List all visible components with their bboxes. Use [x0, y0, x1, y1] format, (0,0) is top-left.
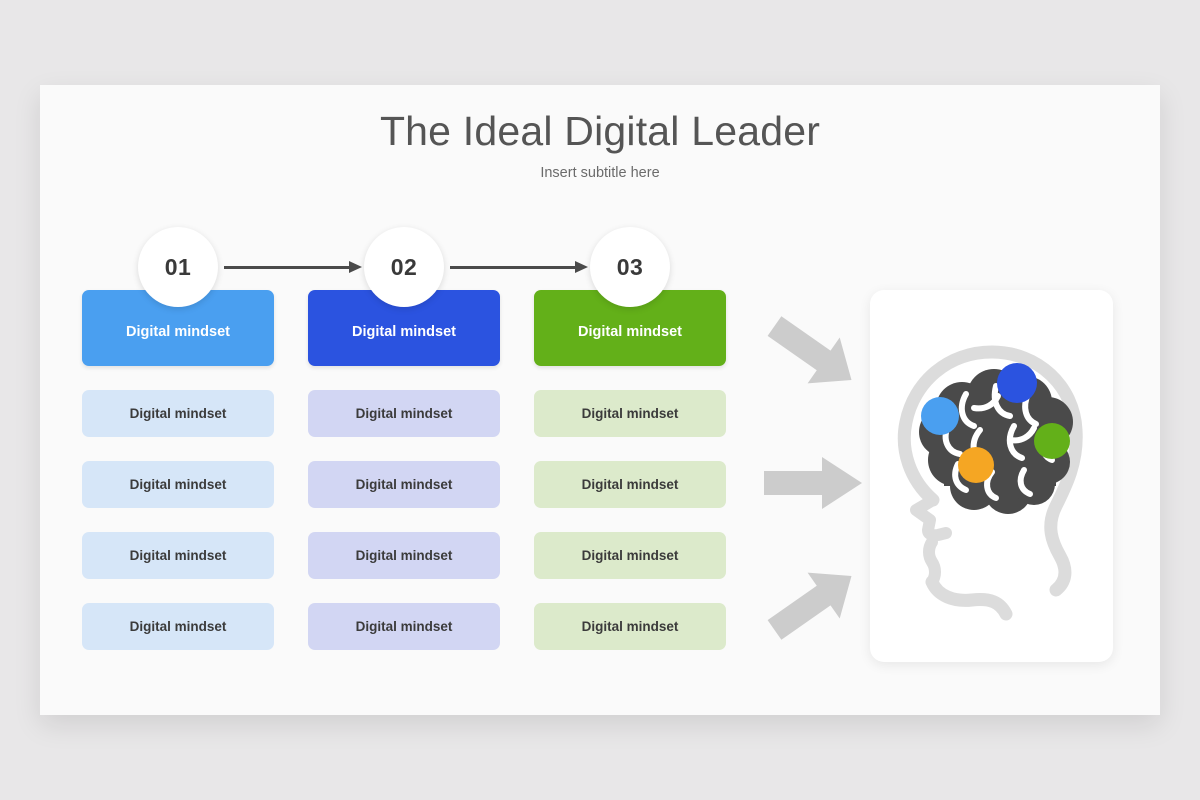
list-item-label: Digital mindset: [356, 548, 453, 563]
list-item[interactable]: Digital mindset: [82, 532, 274, 579]
list-item[interactable]: Digital mindset: [308, 532, 500, 579]
list-item[interactable]: Digital mindset: [82, 390, 274, 437]
head-with-brain-card: [870, 290, 1113, 662]
column-step-03: Digital mindset Digital mindset Digital …: [534, 290, 726, 650]
list-item-label: Digital mindset: [130, 619, 227, 634]
dot-orange-icon: [958, 447, 994, 483]
step-number-label: 02: [391, 254, 418, 281]
page-title: The Ideal Digital Leader: [40, 108, 1160, 155]
step-number-badge-03[interactable]: 03: [590, 227, 670, 307]
list-item[interactable]: Digital mindset: [308, 603, 500, 650]
column-header-label: Digital mindset: [126, 324, 230, 340]
arrow-down-right-icon: [758, 303, 868, 408]
list-item[interactable]: Digital mindset: [534, 532, 726, 579]
arrow-right-icon: [758, 453, 868, 518]
list-item-label: Digital mindset: [582, 548, 679, 563]
list-item[interactable]: Digital mindset: [308, 390, 500, 437]
list-item[interactable]: Digital mindset: [534, 603, 726, 650]
dot-royal-blue-icon: [997, 363, 1037, 403]
column-header-label: Digital mindset: [352, 324, 456, 340]
connector-line: [224, 266, 350, 269]
list-item-label: Digital mindset: [582, 406, 679, 421]
list-item-label: Digital mindset: [582, 619, 679, 634]
connector-arrow-1-to-2: [224, 264, 362, 270]
column-header-label: Digital mindset: [578, 324, 682, 340]
list-item-label: Digital mindset: [130, 548, 227, 563]
connector-arrowhead-icon: [349, 261, 362, 273]
slide-canvas: The Ideal Digital Leader Insert subtitle…: [40, 85, 1160, 715]
column-step-01: Digital mindset Digital mindset Digital …: [82, 290, 274, 650]
chin-jaw-path: [932, 582, 1006, 614]
connector-arrow-2-to-3: [450, 264, 588, 270]
list-item-label: Digital mindset: [356, 619, 453, 634]
connector-arrowhead-icon: [575, 261, 588, 273]
list-item[interactable]: Digital mindset: [534, 390, 726, 437]
step-number-badge-01[interactable]: 01: [138, 227, 218, 307]
list-item-label: Digital mindset: [130, 477, 227, 492]
connector-line: [450, 266, 576, 269]
column-step-02: Digital mindset Digital mindset Digital …: [308, 290, 500, 650]
list-item[interactable]: Digital mindset: [82, 603, 274, 650]
list-item-label: Digital mindset: [130, 406, 227, 421]
list-item[interactable]: Digital mindset: [308, 461, 500, 508]
dot-green-icon: [1034, 423, 1070, 459]
page-subtitle: Insert subtitle here: [40, 165, 1160, 181]
list-item[interactable]: Digital mindset: [82, 461, 274, 508]
dot-light-blue-icon: [921, 397, 959, 435]
step-number-label: 03: [617, 254, 644, 281]
list-item-label: Digital mindset: [582, 477, 679, 492]
list-item[interactable]: Digital mindset: [534, 461, 726, 508]
step-number-badge-02[interactable]: 02: [364, 227, 444, 307]
list-item-label: Digital mindset: [356, 477, 453, 492]
step-number-label: 01: [165, 254, 192, 281]
list-item-label: Digital mindset: [356, 406, 453, 421]
nose-path: [916, 500, 946, 535]
arrow-up-right-icon: [758, 553, 868, 658]
head-with-brain-illustration: [870, 290, 1113, 662]
